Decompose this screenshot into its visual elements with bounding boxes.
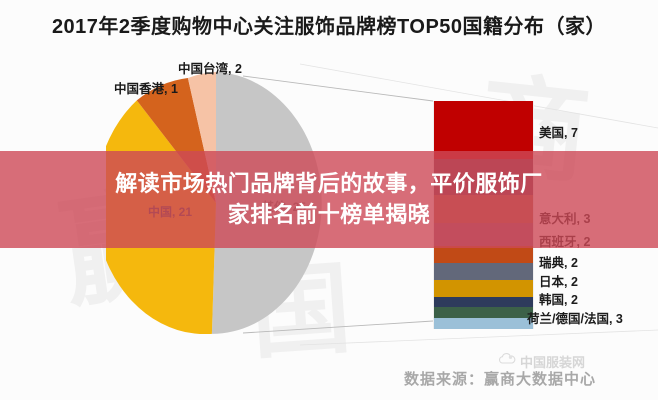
promo-overlay-line-2: 家排名前十榜单揭晓: [228, 200, 431, 230]
bar-label-japan: 日本, 2: [539, 271, 578, 290]
bar-segment-france[interactable]: [433, 318, 534, 329]
bar-segment-korea[interactable]: [433, 280, 534, 297]
bar-label-sweden: 瑞典, 2: [539, 252, 578, 271]
bar-segment-japan[interactable]: [433, 263, 534, 280]
bar-label-usa: 美国, 7: [539, 122, 578, 141]
promo-overlay-text: 解读市场热门品牌背后的故事，平价服饰厂 家排名前十榜单揭晓: [0, 151, 658, 248]
bar-segment-sweden[interactable]: [433, 246, 534, 263]
pie-label-hongkong: 中国香港, 1: [114, 78, 178, 97]
bar-label-netherlands: 荷兰/德国/法国, 3: [527, 308, 623, 327]
chart-title: 2017年2季度购物中心关注服饰品牌榜TOP50国籍分布（家）: [0, 10, 658, 39]
bar-segment-netherlands[interactable]: [433, 297, 534, 307]
cloud-logo-icon: [498, 352, 516, 366]
bar-segment-germany[interactable]: [433, 307, 534, 318]
bar-label-korea: 韩国, 2: [539, 289, 578, 308]
chart-canvas: 赢 商 国 2017年2季度购物中心关注服饰品牌榜TOP50国籍分布（家） 中国…: [0, 0, 658, 400]
pie-label-taiwan: 中国台湾, 2: [178, 58, 242, 77]
source-note: 数据来源：赢商大数据中心: [404, 368, 596, 389]
promo-overlay-line-1: 解读市场热门品牌背后的故事，平价服饰厂: [115, 169, 543, 199]
